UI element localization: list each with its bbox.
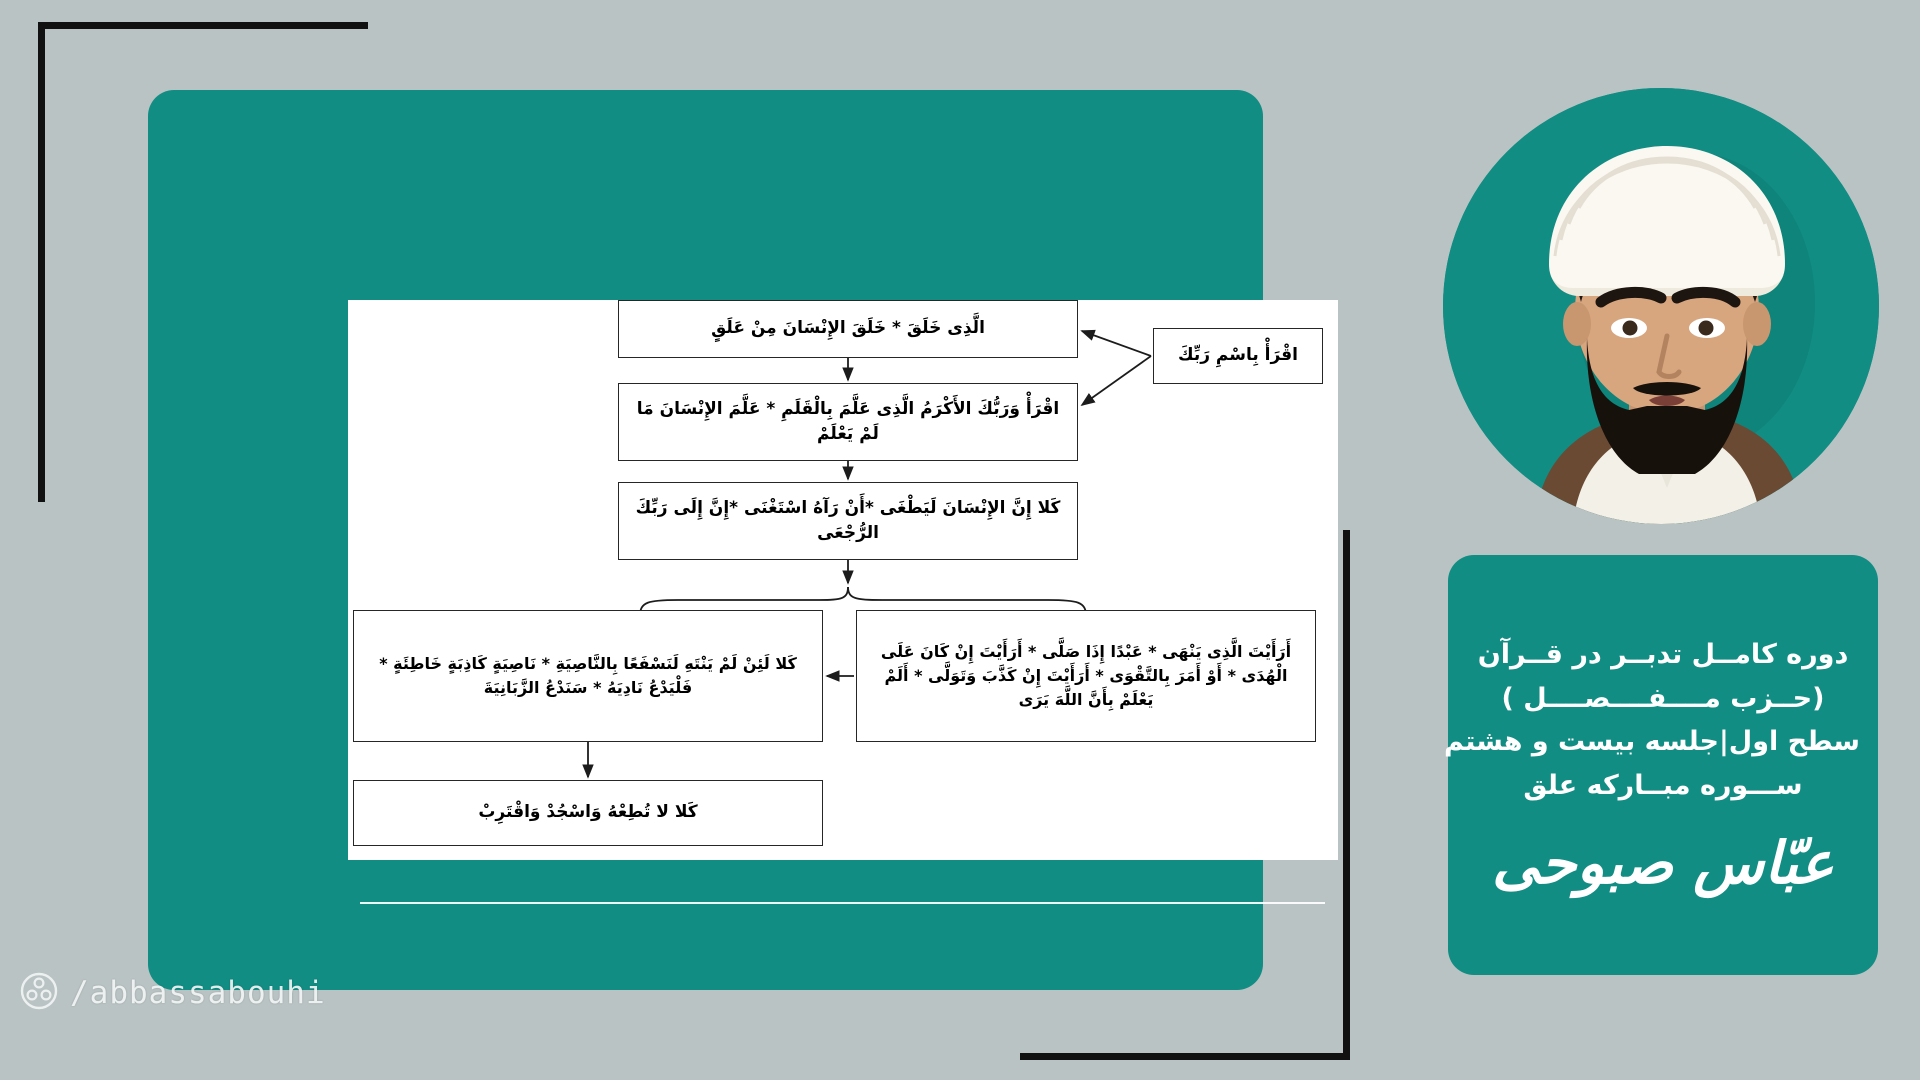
surah-line: ســـوره مبــاركه علق [1466, 764, 1860, 808]
flow-box-bismi-rabbik: اقْرَأْ بِاسْمِ رَبِّكَ [1153, 328, 1323, 384]
flow-box-text: كَلا إِنَّ الإِنْسَانَ لَيَطْغَى *أَنْ ر… [627, 496, 1069, 547]
flow-box-ayah-3: اقْرَأْ وَرَبُّكَ الأَكْرَمُ الَّذِى عَل… [618, 383, 1078, 461]
course-title-line-2: (حــزب مــــفــــصــــل ) [1466, 677, 1860, 721]
flow-box-final: كَلا لا تُطِعْهُ وَاسْجُدْ وَاقْتَرِبْ [353, 780, 823, 846]
channel-watermark: /abbassabouhi [20, 972, 326, 1014]
film-reel-icon [20, 972, 58, 1014]
course-title-line-1: دوره کامــل تدبــر در قــرآن [1466, 633, 1860, 677]
slide-canvas: الَّذِى خَلَقَ * خَلَقَ الإِنْسَانَ مِنْ… [0, 0, 1920, 1080]
session-line: سطح اول|جلسه بیست و هشتم [1466, 720, 1860, 764]
flow-box-ayah-1: الَّذِى خَلَقَ * خَلَقَ الإِنْسَانَ مِنْ… [618, 300, 1078, 358]
flow-box-text: اقْرَأْ وَرَبُّكَ الأَكْرَمُ الَّذِى عَل… [627, 397, 1069, 448]
flow-box-text: أَرَأَيْتَ الَّذِى يَنْهَى * عَبْدًا إِذ… [865, 640, 1307, 712]
flow-box-ayah-6: كَلا إِنَّ الإِنْسَانَ لَيَطْغَى *أَنْ ر… [618, 482, 1078, 560]
flow-box-left-branch: كَلا لَئِنْ لَمْ يَنْتَهِ لَنَسْفَعًا بِ… [353, 610, 823, 742]
avatar [1443, 88, 1879, 524]
flow-box-right-branch: أَرَأَيْتَ الَّذِى يَنْهَى * عَبْدًا إِذ… [856, 610, 1316, 742]
flow-box-text: كَلا لَئِنْ لَمْ يَنْتَهِ لَنَسْفَعًا بِ… [362, 652, 814, 700]
flow-box-text: اقْرَأْ بِاسْمِ رَبِّكَ [1162, 343, 1314, 369]
avatar-illustration [1443, 88, 1879, 524]
lesson-info-card: دوره کامــل تدبــر در قــرآن (حــزب مـــ… [1448, 555, 1878, 975]
flow-box-text: الَّذِى خَلَقَ * خَلَقَ الإِنْسَانَ مِنْ… [627, 316, 1069, 342]
instructor-signature: عبّاس صبوحی [1466, 834, 1860, 892]
flowchart-sheet: الَّذِى خَلَقَ * خَلَقَ الإِنْسَانَ مِنْ… [348, 300, 1338, 860]
panel-divider [360, 902, 1325, 904]
main-slide-panel: الَّذِى خَلَقَ * خَلَقَ الإِنْسَانَ مِنْ… [148, 90, 1263, 990]
channel-handle: /abbassabouhi [70, 975, 326, 1011]
flow-box-text: كَلا لا تُطِعْهُ وَاسْجُدْ وَاقْتَرِبْ [362, 800, 814, 826]
